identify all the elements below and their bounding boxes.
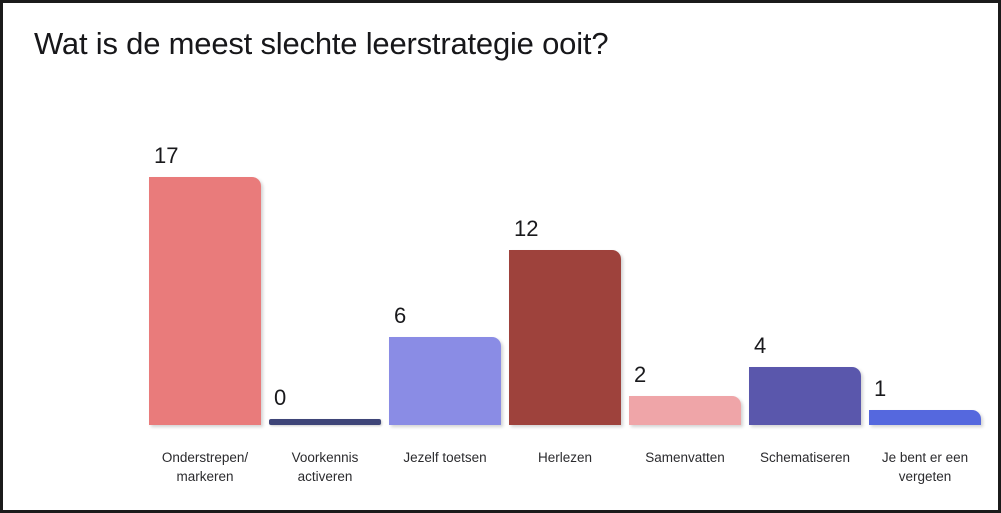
bar-value-label: 4 xyxy=(754,335,766,357)
bar-value-label: 1 xyxy=(874,378,886,400)
bar-group: 17 xyxy=(149,99,261,425)
category-label: Onderstrepen/markeren xyxy=(145,448,265,486)
bar[interactable] xyxy=(509,250,621,425)
category-label-line: Schematiseren xyxy=(745,448,865,467)
category-label-line: activeren xyxy=(265,467,385,486)
category-label-line: Onderstrepen/ xyxy=(145,448,265,467)
bar-value-label: 17 xyxy=(154,145,178,167)
bar-group: 1 xyxy=(869,99,981,425)
category-label-line: markeren xyxy=(145,467,265,486)
bar-group: 2 xyxy=(629,99,741,425)
category-label-line: Samenvatten xyxy=(625,448,745,467)
bar-group: 12 xyxy=(509,99,621,425)
category-label: Jezelf toetsen xyxy=(385,448,505,467)
category-label-line: Je bent er een xyxy=(865,448,985,467)
chart-title: Wat is de meest slechte leerstrategie oo… xyxy=(34,25,608,63)
category-label-line: Jezelf toetsen xyxy=(385,448,505,467)
category-label: Herlezen xyxy=(505,448,625,467)
bar-value-label: 12 xyxy=(514,218,538,240)
category-label: Je bent er eenvergeten xyxy=(865,448,985,486)
bar-group: 6 xyxy=(389,99,501,425)
category-label-line: Voorkennis xyxy=(265,448,385,467)
chart-plot-area: 170612241 xyxy=(145,99,985,425)
bar[interactable] xyxy=(749,367,861,425)
bar-group: 4 xyxy=(749,99,861,425)
chart-slide: Wat is de meest slechte leerstrategie oo… xyxy=(0,0,1001,513)
category-axis: Onderstrepen/markerenVoorkennisactiveren… xyxy=(145,448,985,510)
category-label: Voorkennisactiveren xyxy=(265,448,385,486)
bar-value-label: 2 xyxy=(634,364,646,386)
bar[interactable] xyxy=(269,419,381,425)
bar-value-label: 0 xyxy=(274,387,286,409)
bar-value-label: 6 xyxy=(394,305,406,327)
category-label-line: Herlezen xyxy=(505,448,625,467)
bar[interactable] xyxy=(389,337,501,425)
category-label: Samenvatten xyxy=(625,448,745,467)
bar[interactable] xyxy=(869,410,981,425)
bar[interactable] xyxy=(149,177,261,425)
category-label: Schematiseren xyxy=(745,448,865,467)
bar[interactable] xyxy=(629,396,741,425)
bar-group: 0 xyxy=(269,99,381,425)
category-label-line: vergeten xyxy=(865,467,985,486)
